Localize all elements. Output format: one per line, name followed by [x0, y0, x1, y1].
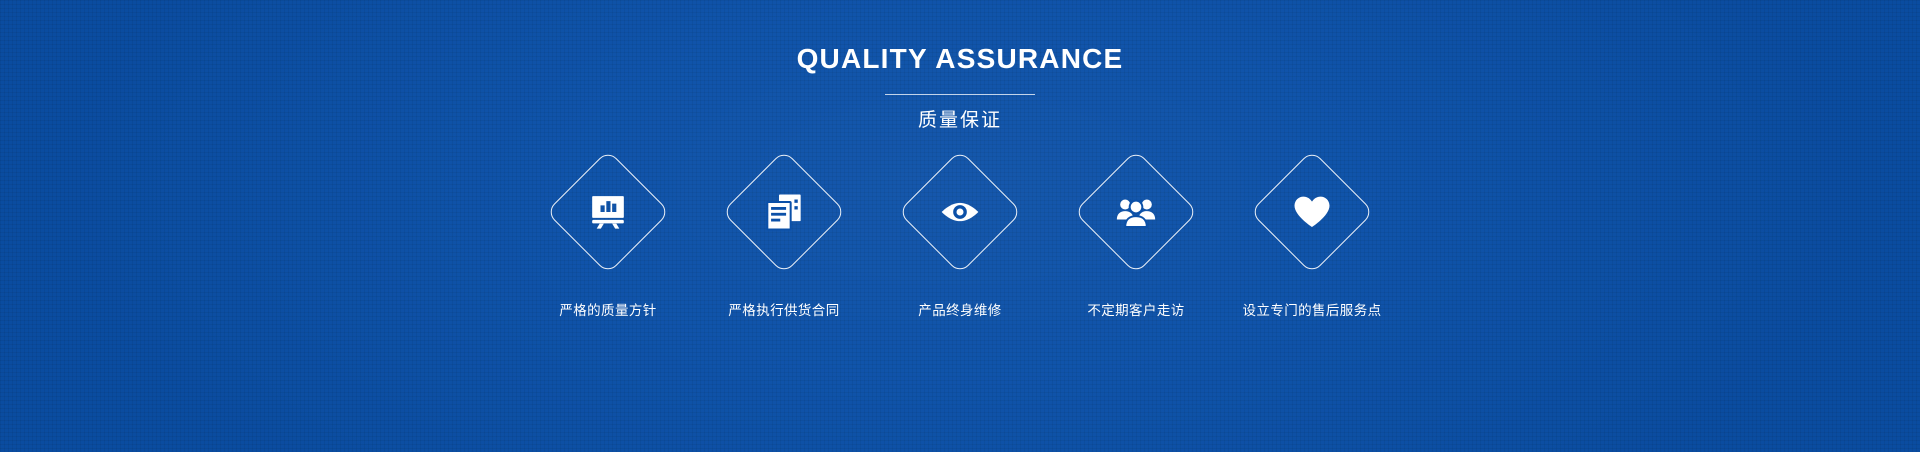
diamond-frame [722, 150, 846, 274]
feature-item-lifetime-maintenance[interactable]: 产品终身维修 [872, 168, 1048, 320]
feature-item-quality-policy[interactable]: 严格的质量方针 [520, 168, 696, 320]
feature-item-supply-contract[interactable]: 严格执行供货合同 [696, 168, 872, 320]
feature-label: 产品终身维修 [918, 302, 1001, 320]
users-group-icon [1116, 192, 1156, 232]
page-title: QUALITY ASSURANCE [0, 42, 1920, 76]
heart-icon [1292, 192, 1332, 232]
feature-list: 严格的质量方针 [520, 168, 1400, 320]
presentation-chart-icon [588, 192, 628, 232]
eye-icon [940, 192, 980, 232]
feature-label: 严格的质量方针 [559, 302, 656, 320]
title-divider [885, 94, 1035, 95]
page-subtitle: 质量保证 [0, 109, 1920, 133]
feature-label: 设立专门的售后服务点 [1243, 302, 1382, 320]
diamond-frame [1074, 150, 1198, 274]
quality-assurance-banner: QUALITY ASSURANCE 质量保证 严格的质 [0, 0, 1920, 452]
banner-content: QUALITY ASSURANCE 质量保证 严格的质 [0, 0, 1920, 452]
diamond-frame [898, 150, 1022, 274]
documents-icon [764, 192, 804, 232]
feature-label: 严格执行供货合同 [728, 302, 839, 320]
diamond-frame [546, 150, 670, 274]
feature-item-after-sales-service[interactable]: 设立专门的售后服务点 [1224, 168, 1400, 320]
feature-label: 不定期客户走访 [1087, 302, 1184, 320]
feature-item-customer-visits[interactable]: 不定期客户走访 [1048, 168, 1224, 320]
heading-block: QUALITY ASSURANCE 质量保证 [0, 42, 1920, 133]
diamond-frame [1250, 150, 1374, 274]
